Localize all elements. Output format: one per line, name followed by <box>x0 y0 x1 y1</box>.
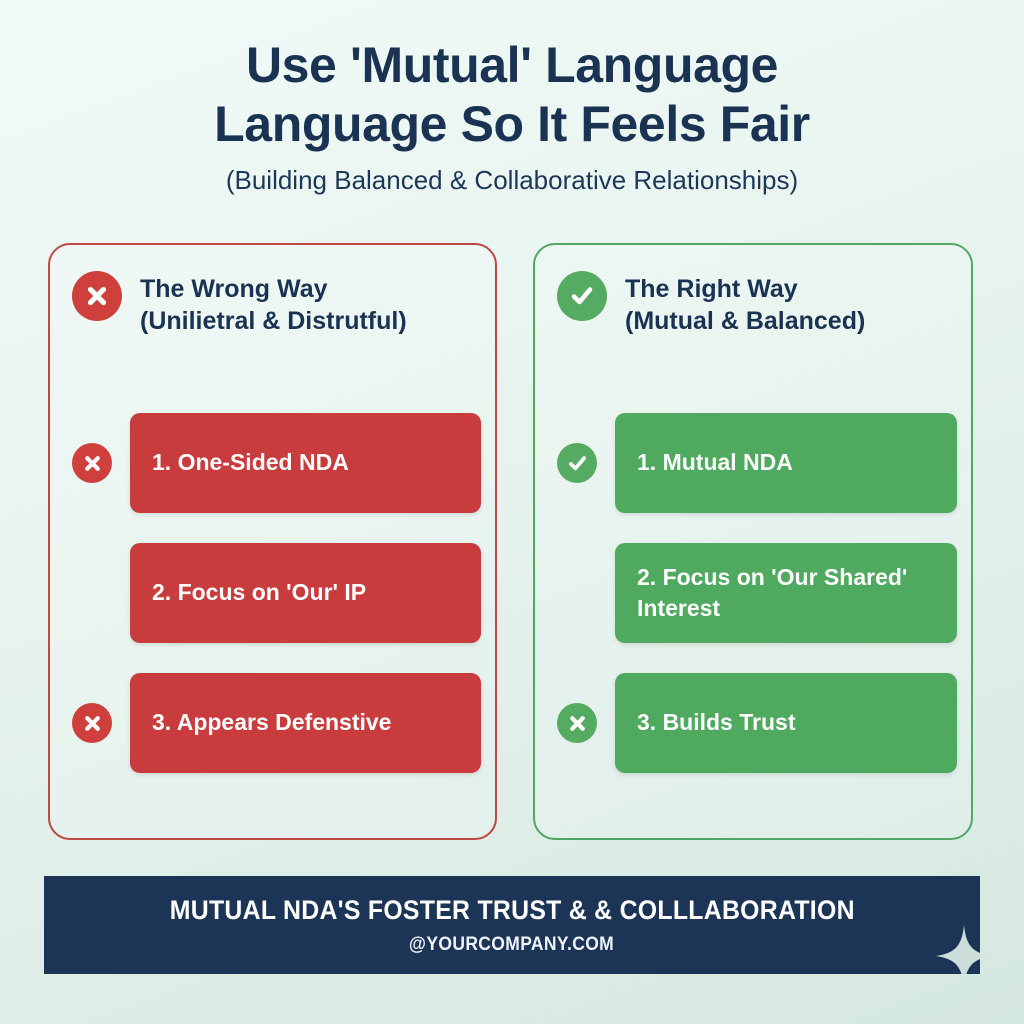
panel-right-way-header: The Right Way (Mutual & Balanced) <box>557 271 957 337</box>
check-circle-icon <box>557 443 597 483</box>
panel-wrong-way-title: The Wrong Way <box>140 275 328 303</box>
panel-right-way-subtitle: (Mutual & Balanced) <box>625 307 865 335</box>
banner-handle: @YOURCOMPANY.COM <box>409 934 614 956</box>
list-item[interactable]: 3. Builds Trust <box>557 673 957 773</box>
infographic-canvas: Use 'Mutual' Language Language So It Fee… <box>0 0 1024 1024</box>
panel-right-way: The Right Way (Mutual & Balanced) 1. Mut… <box>533 243 973 840</box>
list-item[interactable]: 1. One-Sided NDA <box>72 413 481 513</box>
card-label[interactable]: 2. Focus on 'Our' IP <box>130 543 481 643</box>
card-label[interactable]: 1. One-Sided NDA <box>130 413 481 513</box>
check-circle-icon <box>557 271 607 321</box>
panel-right-way-title: The Right Way <box>625 275 798 303</box>
panel-right-way-headings: The Right Way (Mutual & Balanced) <box>625 271 957 337</box>
panel-wrong-way-headings: The Wrong Way (Unilietral & Distrutful) <box>140 271 481 337</box>
list-item[interactable]: 1. Mutual NDA <box>557 413 957 513</box>
page-title-line-2: Language So It Feels Fair <box>60 95 964 154</box>
banner-headline: MUTUAL NDA'S FOSTER TRUST & & COLLLABORA… <box>169 895 854 926</box>
x-circle-icon <box>72 443 112 483</box>
x-circle-icon <box>72 271 122 321</box>
x-circle-icon <box>557 703 597 743</box>
list-item[interactable]: 3. Appears Defenstive <box>72 673 481 773</box>
footer-banner: MUTUAL NDA'S FOSTER TRUST & & COLLLABORA… <box>44 876 980 974</box>
list-item[interactable]: 2. Focus on 'Our Shared' Interest <box>557 543 957 643</box>
card-label[interactable]: 3. Builds Trust <box>615 673 957 773</box>
panel-wrong-way-header: The Wrong Way (Unilietral & Distrutful) <box>72 271 481 337</box>
right-way-list: 1. Mutual NDA 2. Focus on 'Our Shared' I… <box>557 413 957 773</box>
card-label[interactable]: 2. Focus on 'Our Shared' Interest <box>615 543 957 643</box>
page-subtitle: (Building Balanced & Collaborative Relat… <box>60 165 964 196</box>
x-circle-icon <box>72 703 112 743</box>
list-item[interactable]: 2. Focus on 'Our' IP <box>72 543 481 643</box>
card-label[interactable]: 3. Appears Defenstive <box>130 673 481 773</box>
card-label[interactable]: 1. Mutual NDA <box>615 413 957 513</box>
header-block: Use 'Mutual' Language Language So It Fee… <box>60 36 964 196</box>
wrong-way-list: 1. One-Sided NDA 2. Focus on 'Our' IP 3.… <box>72 413 481 773</box>
panel-wrong-way-subtitle: (Unilietral & Distrutful) <box>140 307 407 335</box>
page-title-line-1: Use 'Mutual' Language <box>60 36 964 95</box>
panel-wrong-way: The Wrong Way (Unilietral & Distrutful) … <box>48 243 497 840</box>
